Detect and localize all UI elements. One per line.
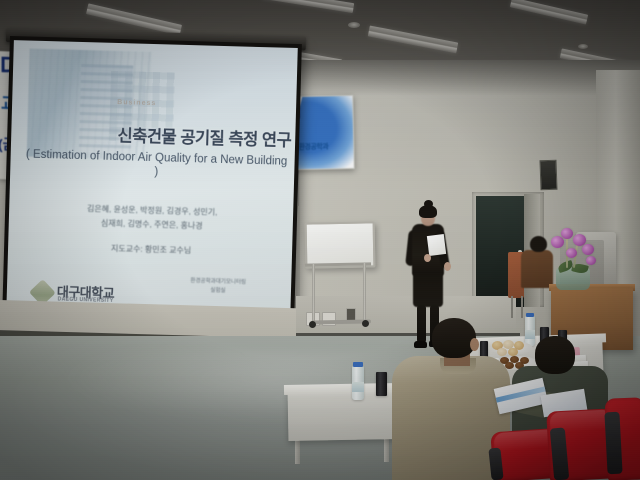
- attendee-tan-suit-head: [432, 318, 476, 358]
- seated-person-brown-body: [521, 250, 553, 288]
- ceiling-downlight-2: [348, 22, 360, 28]
- presenter-skirt: [413, 272, 443, 307]
- slide-advisor: 지도교수: 황민조 교수님: [22, 240, 280, 258]
- auditorium-seat-arm-2[interactable]: [604, 412, 622, 475]
- pastry-4: [497, 348, 507, 356]
- orchid-flower-1: [551, 236, 564, 248]
- orchid-flower-4: [582, 244, 594, 255]
- side-chair-leg-2: [521, 296, 523, 318]
- orchid-flower-5: [566, 248, 577, 258]
- orchid-flower-2: [561, 228, 573, 239]
- presenter-right-hand: [444, 262, 451, 271]
- slide-subtitle: ( Estimation of Indoor Air Quality for a…: [22, 148, 291, 183]
- slide-department: 환경공학과대기모니터링 실험실: [157, 276, 279, 298]
- whiteboard-post-right: [363, 263, 366, 321]
- whiteboard-caster-right: [362, 320, 369, 327]
- photograph-scene: 대 교 (금) 발표회 표회 구대학교 환경공학과 Business 신축건물 …: [0, 0, 640, 480]
- presenter-leg-left: [417, 305, 426, 343]
- orchid-flower-6: [586, 256, 596, 265]
- wall-speaker-icon: [539, 160, 557, 191]
- presenter-hair-bun: [424, 200, 433, 208]
- seated-person-brown-head: [530, 236, 547, 252]
- bottle-label-right-1: [525, 330, 535, 339]
- whiteboard-caster-left: [309, 321, 316, 328]
- projected-slide: Business 신축건물 공기질 측정 연구 ( Estimation of …: [6, 40, 297, 320]
- booklet-accent-band: [496, 386, 546, 402]
- presenter-shoe-left: [414, 341, 427, 348]
- presenter-papers: [427, 234, 446, 256]
- attendee-reading-head: [535, 336, 575, 374]
- bottle-cap-right-1: [526, 313, 534, 317]
- ceiling-downlight-4: [578, 44, 588, 49]
- slide-department-line-2: 실험실: [157, 286, 279, 299]
- presenter-left-hand: [424, 254, 431, 262]
- pastry-5: [508, 348, 518, 356]
- attendee-tan-suit-ear: [470, 338, 479, 351]
- slide-authors: 김은혜, 윤성운, 박정원, 김경우, 성민기, 심재희, 김명수, 주연은, …: [23, 200, 282, 235]
- beverage-can-front[interactable]: [376, 372, 387, 396]
- bottle-cap-front: [353, 362, 363, 367]
- slide-watermark: Business: [117, 99, 156, 107]
- projection-screen: Business 신축건물 공기질 측정 연구 ( Estimation of …: [2, 36, 302, 330]
- bottle-label-front: [352, 382, 364, 392]
- whiteboard-post-left: [312, 264, 315, 322]
- side-chair-leg-1: [511, 296, 513, 318]
